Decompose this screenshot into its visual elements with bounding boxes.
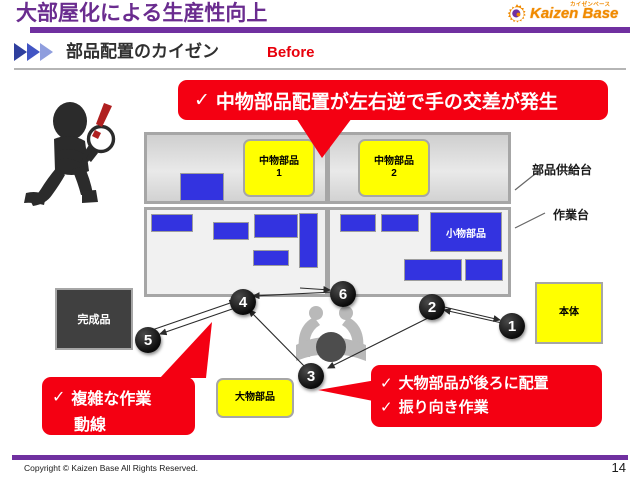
work-tray-r4	[465, 259, 503, 281]
step-circle-6[interactable]: 6	[330, 281, 356, 307]
work-tray-l2	[213, 222, 249, 240]
phase-label: Before	[267, 41, 315, 65]
medium-part-2-box: 中物部品 2	[358, 139, 430, 197]
step-circle-1[interactable]: 1	[499, 313, 525, 339]
kaizen-base-logo: カイゼンベース Kaizen Base	[506, 1, 634, 27]
work-tray-l4	[253, 250, 289, 266]
callout-bottom-left: ✓ 複雑な作業 動線	[42, 377, 195, 435]
work-tray-r1	[340, 214, 376, 232]
callout-top: ✓ 中物部品配置が左右逆で手の交差が発生	[178, 80, 608, 120]
operator-topview-icon	[276, 295, 386, 375]
callout-br-check1: ✓	[380, 374, 393, 392]
main-body-box: 本体	[535, 282, 603, 344]
small-parts-box: 小物部品	[430, 212, 502, 252]
step-circle-5[interactable]: 5	[135, 327, 161, 353]
small-parts-label: 小物部品	[446, 225, 486, 240]
large-parts-box: 大物部品	[216, 378, 294, 418]
subtitle-divider	[14, 68, 626, 70]
medium-part-1-line1: 中物部品	[259, 156, 299, 168]
footer-divider	[12, 455, 628, 460]
subtitle-text: 部品配置のカイゼン	[66, 40, 219, 64]
footer-page-number: 14	[612, 460, 626, 475]
work-tray-r2	[381, 214, 419, 232]
callout-br-check2: ✓	[380, 398, 393, 416]
work-tray-l1	[151, 214, 193, 232]
main-body-label: 本体	[559, 307, 579, 319]
medium-part-2-line1: 中物部品	[374, 156, 414, 168]
medium-part-1-box: 中物部品 1	[243, 139, 315, 197]
step-circle-2[interactable]: 2	[419, 294, 445, 320]
callout-br-line1: 大物部品が後ろに配置	[399, 372, 549, 393]
finished-goods-box: 完成品	[55, 288, 133, 350]
finished-goods-label: 完成品	[78, 311, 111, 327]
callout-bl-line1: 複雑な作業	[71, 385, 151, 409]
gear-eye-icon	[506, 3, 528, 25]
medium-part-2-line2: 2	[391, 168, 397, 180]
inspector-figure-icon	[24, 95, 132, 207]
step-circle-4[interactable]: 4	[230, 289, 256, 315]
triple-chevron-icon	[14, 42, 60, 62]
callout-top-check: ✓	[194, 89, 210, 112]
callout-top-text: 中物部品配置が左右逆で手の交差が発生	[216, 87, 558, 114]
callout-bottom-right: ✓ 大物部品が後ろに配置 ✓ 振り向き作業	[371, 365, 602, 427]
footer-copyright: Copyright © Kaizen Base All Rights Reser…	[24, 463, 198, 473]
callout-bl-line2: 動線	[74, 411, 106, 435]
label-parts-supply-stand: 部品供給台	[532, 161, 592, 178]
page-title: 大部屋化による生産性向上	[16, 0, 446, 28]
callout-br-line2: 振り向き作業	[399, 396, 489, 417]
label-work-bench: 作業台	[553, 206, 589, 223]
medium-part-1-line2: 1	[276, 168, 282, 180]
supply-shelf-blue-tray	[180, 173, 224, 201]
header-divider	[30, 27, 630, 33]
slide-canvas: 大部屋化による生産性向上 カイゼンベース Kaizen Base 部品配置のカイ…	[0, 0, 640, 480]
work-tray-l3	[254, 214, 298, 238]
large-parts-label: 大物部品	[235, 392, 275, 404]
work-tray-r3	[404, 259, 462, 281]
callout-bl-check: ✓	[52, 387, 65, 407]
step-circle-3[interactable]: 3	[298, 363, 324, 389]
work-tray-l5	[299, 213, 318, 268]
logo-wordmark: Kaizen Base	[530, 5, 618, 22]
